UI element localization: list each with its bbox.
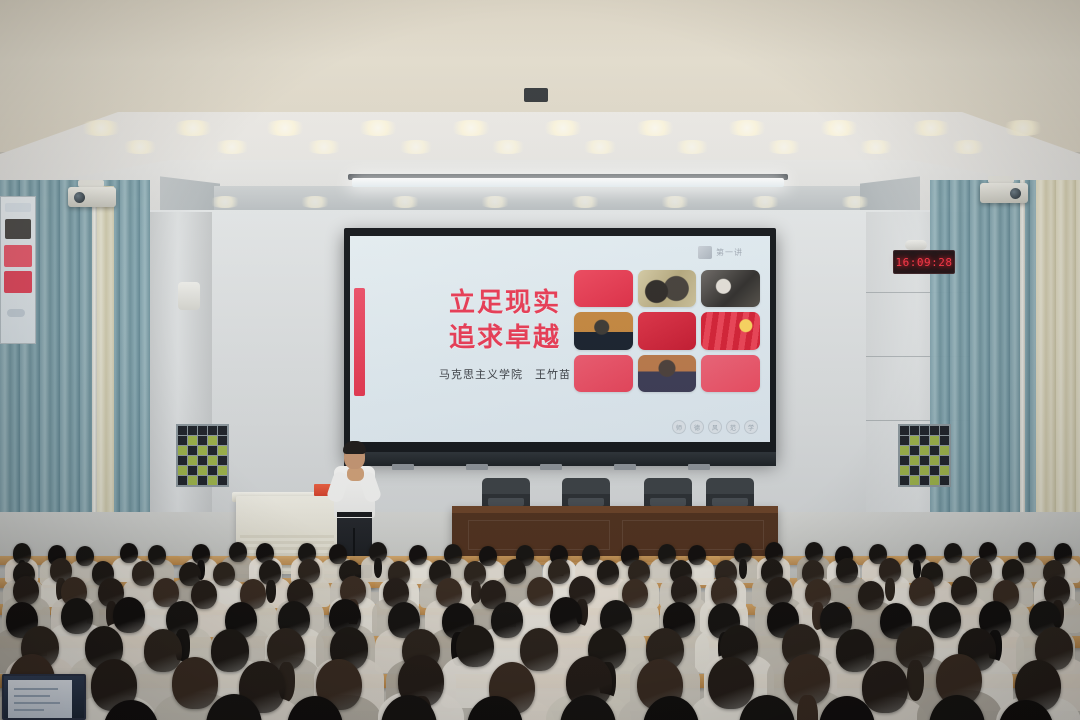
downlight-1-3 <box>396 140 436 154</box>
screen-bracket-5 <box>688 464 710 470</box>
grid-cell <box>218 476 227 485</box>
downlight-2-7 <box>658 196 692 208</box>
grid-cell <box>940 446 949 455</box>
grid-cell <box>198 436 207 445</box>
audience-person-head <box>862 661 908 713</box>
slide-logo: 第一讲 <box>698 244 760 261</box>
support-pole-right <box>1020 180 1025 562</box>
grid-cell <box>910 426 919 435</box>
audience-person-head <box>836 558 858 583</box>
grid-cell <box>930 456 939 465</box>
grid-cell <box>198 476 207 485</box>
projector-mount-right <box>988 176 1014 183</box>
speaker-hands <box>347 467 364 481</box>
audience-person-head <box>688 545 706 565</box>
grid-cell <box>930 446 939 455</box>
audience-person-head <box>211 629 249 672</box>
grid-cell <box>900 436 909 445</box>
downlight-1-9 <box>948 140 988 154</box>
audience-person-ponytail <box>885 578 895 602</box>
grid-cell <box>198 446 207 455</box>
grid-cell <box>208 476 217 485</box>
slide-badge-3: 范 <box>726 420 740 434</box>
screen-bracket-2 <box>466 464 488 470</box>
downlight-2-4 <box>388 196 422 208</box>
audience-person-head <box>520 628 558 671</box>
audience-person-head <box>671 576 697 605</box>
grid-cell <box>178 466 187 475</box>
audience-person-head <box>132 561 154 586</box>
grid-cell <box>218 456 227 465</box>
grid-cell <box>940 426 949 435</box>
audience-person-ponytail <box>266 580 276 604</box>
grid-cell <box>910 476 919 485</box>
slide-tile-red-tile <box>574 355 633 392</box>
downlight-0-0 <box>78 120 124 136</box>
audience-person-head <box>444 544 462 564</box>
downlight-1-2 <box>304 140 344 154</box>
slide-badge-row: 师德风范学 <box>672 420 758 434</box>
audience-person-head <box>61 598 93 634</box>
wall-panel-grid-left <box>176 424 229 487</box>
grid-cell <box>910 446 919 455</box>
audience-person-head <box>148 545 166 565</box>
projector-mount-left <box>78 180 104 187</box>
wall-panel-grid-right <box>898 424 951 487</box>
grid-cell <box>208 466 217 475</box>
downlight-0-10 <box>1000 120 1046 136</box>
downlight-2-2 <box>208 196 242 208</box>
downlight-2-9 <box>838 196 872 208</box>
grid-cell <box>178 446 187 455</box>
downlight-2-5 <box>478 196 512 208</box>
grid-cell <box>920 456 929 465</box>
audience-person-head <box>548 559 570 584</box>
grid-cell <box>188 426 197 435</box>
audience-person-head <box>550 597 582 633</box>
grid-cell <box>188 436 197 445</box>
slide-logo-text: 第一讲 <box>716 247 743 258</box>
audience-person-head <box>13 576 39 605</box>
grid-cell <box>218 426 227 435</box>
grid-cell <box>930 476 939 485</box>
audience-person-head <box>172 657 218 709</box>
downlight-0-4 <box>448 120 494 136</box>
audience-person-ponytail <box>797 695 818 720</box>
audience-person-ponytail <box>907 660 924 701</box>
audience-person-ponytail <box>374 558 382 577</box>
audience-person-head <box>409 545 427 565</box>
audience-person-head <box>1018 542 1036 562</box>
slide-subtitle: 马克思主义学院 王竹苗 <box>410 366 600 382</box>
grid-cell <box>198 466 207 475</box>
slide-title-line-1: 立足现实 <box>420 286 590 321</box>
slide-badge-2: 风 <box>708 420 722 434</box>
linear-light-strip <box>352 178 784 187</box>
audience-person-head <box>76 546 94 566</box>
downlight-1-8 <box>856 140 896 154</box>
downlight-2-3 <box>298 196 332 208</box>
grid-cell <box>900 426 909 435</box>
audience-person-head <box>708 657 754 709</box>
wall-speaker-box-left <box>178 282 200 310</box>
grid-cell <box>208 426 217 435</box>
audience-person-head <box>944 543 962 563</box>
downlight-2-8 <box>748 196 782 208</box>
grid-cell <box>940 456 949 465</box>
downlight-0-5 <box>540 120 586 136</box>
audience-person-head <box>144 629 182 672</box>
grid-cell <box>198 426 207 435</box>
laptop-screen <box>8 680 72 718</box>
grid-cell <box>198 456 207 465</box>
audience-person-head <box>120 543 138 563</box>
grid-cell <box>208 436 217 445</box>
grid-cell <box>900 476 909 485</box>
grid-cell <box>208 446 217 455</box>
speaker-belt <box>337 512 372 517</box>
screen-bracket-3 <box>540 464 562 470</box>
downlight-1-4 <box>488 140 528 154</box>
projector-lens-right-icon <box>1010 188 1021 199</box>
grid-cell <box>188 446 197 455</box>
curtain-left-cream <box>96 186 114 562</box>
grid-cell <box>208 456 217 465</box>
downlight-1-6 <box>672 140 712 154</box>
slide-tile-red-tile <box>574 270 633 307</box>
speaker-hair <box>343 441 366 454</box>
audience-person-head <box>909 577 935 606</box>
grid-cell <box>900 456 909 465</box>
audience-person-head <box>582 545 600 565</box>
lecture-hall-photo: 16:09:28 第一讲 立足现实 追求卓越 马克思主义学院 王竹苗 师德风范学 <box>0 0 1080 720</box>
grid-cell <box>900 466 909 475</box>
downlight-0-6 <box>632 120 678 136</box>
grid-cell <box>178 456 187 465</box>
grid-cell <box>188 456 197 465</box>
grid-cell <box>920 436 929 445</box>
downlight-0-7 <box>724 120 770 136</box>
audience-person-head <box>527 577 553 606</box>
downlight-2-6 <box>568 196 602 208</box>
slide-badge-4: 学 <box>744 420 758 434</box>
screen-bracket-4 <box>614 464 636 470</box>
slide-accent-bar <box>354 288 365 396</box>
downlight-1-7 <box>764 140 804 154</box>
support-pole-left <box>92 186 97 562</box>
grid-cell <box>178 476 187 485</box>
slide-tile-speaker-at-desk-photo <box>574 312 633 349</box>
downlight-1-0 <box>120 140 160 154</box>
grid-cell <box>920 426 929 435</box>
grid-cell <box>178 426 187 435</box>
clock-time-text: 16:09:28 <box>896 256 953 269</box>
slide-tile-red-flags-photo <box>701 312 760 349</box>
audience-person-head <box>491 602 523 638</box>
side-wall-display <box>0 196 36 344</box>
grid-cell <box>920 446 929 455</box>
grid-cell <box>900 446 909 455</box>
grid-cell <box>910 436 919 445</box>
audience-person-head <box>658 544 676 564</box>
downlight-1-5 <box>580 140 620 154</box>
audience-person-head <box>951 576 977 605</box>
downlight-0-8 <box>816 120 862 136</box>
logo-mark-icon <box>698 246 712 259</box>
slide-tile-historical-bw-photo <box>701 270 760 307</box>
grid-cell <box>188 476 197 485</box>
clock-sensor-icon <box>905 240 927 250</box>
slide-title: 立足现实 追求卓越 <box>420 286 590 356</box>
grid-cell <box>930 436 939 445</box>
slide-tile-red-tile-large <box>638 312 697 349</box>
slide-badge-0: 师 <box>672 420 686 434</box>
audience-area <box>0 520 1080 720</box>
led-wall-clock: 16:09:28 <box>893 250 955 274</box>
screen-bracket-1 <box>392 464 414 470</box>
slide-tile-person-portrait-photo <box>638 355 697 392</box>
grid-cell <box>218 446 227 455</box>
downlight-0-3 <box>355 120 401 136</box>
pillar-left <box>150 212 212 560</box>
grid-cell <box>218 466 227 475</box>
audience-person-head <box>113 597 145 633</box>
grid-cell <box>940 466 949 475</box>
grid-cell <box>910 466 919 475</box>
grid-cell <box>188 466 197 475</box>
grid-cell <box>178 436 187 445</box>
downlight-0-1 <box>170 120 216 136</box>
audience-person-head <box>213 562 235 587</box>
downlight-0-9 <box>908 120 954 136</box>
projection-screen: 第一讲 立足现实 追求卓越 马克思主义学院 王竹苗 师德风范学 <box>350 236 770 442</box>
slide-title-line-2: 追求卓越 <box>420 321 590 356</box>
audience-person-head <box>191 580 217 609</box>
audience-person-head <box>229 542 247 562</box>
audience-person-head <box>858 581 884 610</box>
grid-cell <box>930 466 939 475</box>
audience-person-head <box>504 559 526 584</box>
slide-image-grid <box>574 270 760 392</box>
downlight-1-1 <box>212 140 252 154</box>
audience-person-head <box>597 560 619 585</box>
grid-cell <box>930 426 939 435</box>
audience-person-head <box>929 602 961 638</box>
grid-cell <box>920 466 929 475</box>
curtain-right-cream <box>1036 180 1080 562</box>
audience-person-head <box>456 625 494 668</box>
grid-cell <box>940 436 949 445</box>
grid-cell <box>218 436 227 445</box>
audience-person-head <box>836 629 874 672</box>
downlight-0-2 <box>262 120 308 136</box>
projector-lens-left-icon <box>74 192 85 203</box>
grid-cell <box>920 476 929 485</box>
grid-cell <box>910 456 919 465</box>
slide-tile-marx-engels-portrait <box>638 270 697 307</box>
grid-cell <box>940 476 949 485</box>
audience-person-ponytail <box>739 559 747 578</box>
slide-tile-red-tile <box>701 355 760 392</box>
ceiling-mount-projector-icon <box>524 88 548 102</box>
slide-badge-1: 德 <box>690 420 704 434</box>
